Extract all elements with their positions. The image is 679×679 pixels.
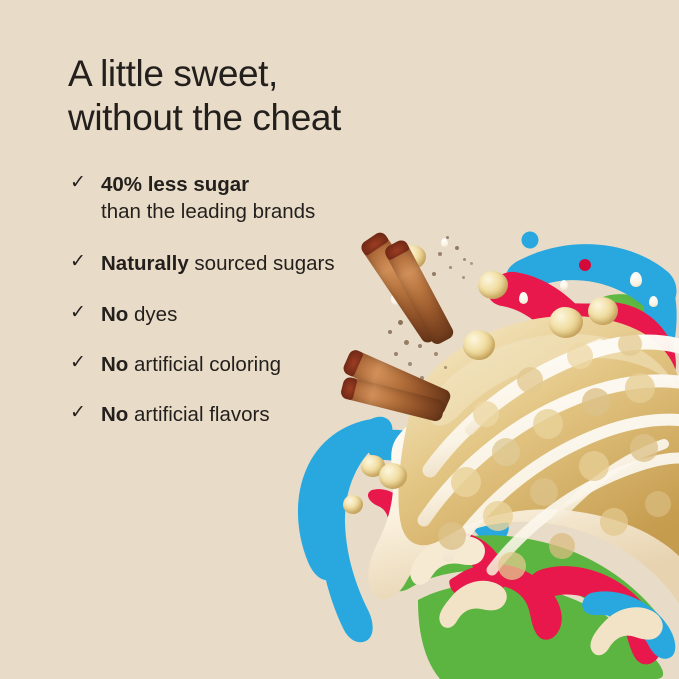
- list-item: ✓ No artificial flavors: [68, 402, 448, 428]
- cereal-puff-floating: [549, 307, 583, 338]
- benefit-text: dyes: [128, 303, 177, 326]
- cereal-puff-floating: [463, 330, 495, 360]
- benefit-emphasis: 40% less sugar: [101, 173, 249, 196]
- cinnamon-dust: [449, 266, 452, 269]
- milk-droplet: [560, 280, 568, 290]
- milk-droplet: [519, 292, 528, 304]
- benefit-text: sourced sugars: [189, 252, 335, 275]
- cinnamon-dust: [470, 262, 473, 265]
- product-feature-panel: A little sweet, without the cheat ✓ 40% …: [0, 0, 679, 679]
- check-mark-icon: ✓: [70, 353, 90, 373]
- check-mark-icon: ✓: [70, 303, 90, 323]
- page-title: A little sweet, without the cheat: [68, 52, 428, 141]
- cinnamon-dust: [455, 246, 459, 250]
- check-mark-icon: ✓: [70, 173, 90, 193]
- splash-dot-blue: [522, 232, 539, 249]
- benefit-list: ✓ 40% less sugar than the leading brands…: [68, 172, 448, 428]
- benefit-text: artificial coloring: [128, 353, 281, 376]
- cinnamon-dust: [463, 258, 466, 261]
- list-item: ✓ No artificial coloring: [68, 352, 448, 378]
- check-mark-icon: ✓: [70, 252, 90, 272]
- benefit-emphasis: No: [101, 403, 128, 426]
- cinnamon-dust: [462, 276, 465, 279]
- cereal-puff-floating: [478, 271, 508, 299]
- benefit-emphasis: Naturally: [101, 252, 189, 275]
- benefit-text: artificial flavors: [128, 403, 269, 426]
- benefit-emphasis: No: [101, 353, 128, 376]
- check-mark-icon: ✓: [70, 403, 90, 423]
- list-item: ✓ No dyes: [68, 302, 448, 328]
- copy-block: A little sweet, without the cheat: [68, 52, 428, 141]
- splash-dot-red: [579, 259, 591, 271]
- cereal-puff-floating: [343, 495, 363, 514]
- list-item: ✓ 40% less sugar than the leading brands: [68, 172, 448, 225]
- benefit-subtext: than the leading brands: [101, 199, 448, 225]
- cereal-puff-floating: [379, 463, 407, 489]
- milk-droplet: [630, 272, 642, 287]
- cereal-puff-floating: [588, 297, 618, 325]
- milk-droplet: [649, 296, 658, 307]
- benefit-emphasis: No: [101, 303, 128, 326]
- list-item: ✓ Naturally sourced sugars: [68, 251, 448, 277]
